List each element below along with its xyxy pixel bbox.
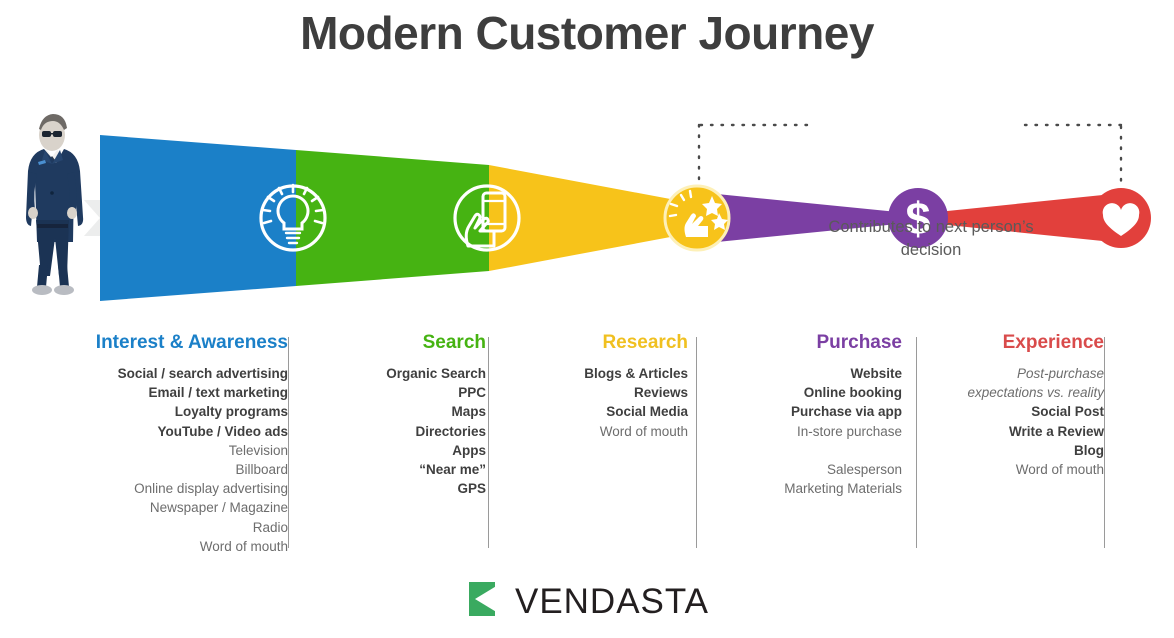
list-item: In-store purchase xyxy=(700,422,902,441)
list-item: Online booking xyxy=(700,383,902,402)
list-item: Purchase via app xyxy=(700,402,902,421)
funnel-label-awareness: Awareness xyxy=(146,307,236,328)
list-item: Directories xyxy=(300,422,486,441)
vendasta-logo: VENDASTA xyxy=(0,578,1174,622)
column-items: Organic SearchPPCMapsDirectoriesApps“Nea… xyxy=(300,364,486,498)
list-item: Television xyxy=(20,441,288,460)
list-item: Loyalty programs xyxy=(20,402,288,421)
list-item: Email / text marketing xyxy=(20,383,288,402)
column-items: Blogs & ArticlesReviewsSocial MediaWord … xyxy=(498,364,688,441)
list-item: Word of mouth xyxy=(914,460,1104,479)
column-divider xyxy=(1104,337,1105,548)
list-item: Billboard xyxy=(20,460,288,479)
list-item: Apps xyxy=(300,441,486,460)
list-item: Word of mouth xyxy=(20,537,288,556)
funnel-label-reputation: Reputation xyxy=(543,307,631,328)
heart-icon xyxy=(1091,188,1151,248)
column-items: Social / search advertisingEmail / text … xyxy=(20,364,288,556)
customer-journey-funnel: $ Awareness Findability Reputation Conve… xyxy=(0,100,1174,320)
list-item: Reviews xyxy=(498,383,688,402)
column-search: Search Organic SearchPPCMapsDirectoriesA… xyxy=(300,332,486,498)
list-item: expectations vs. reality xyxy=(914,383,1104,402)
list-item: Word of mouth xyxy=(498,422,688,441)
list-item: Radio xyxy=(20,518,288,537)
list-item: Organic Search xyxy=(300,364,486,383)
tap-stars-icon xyxy=(665,186,729,250)
list-item: GPS xyxy=(300,479,486,498)
page-title: Modern Customer Journey xyxy=(0,6,1174,60)
list-item: Newspaper / Magazine xyxy=(20,498,288,517)
list-item: Social / search advertising xyxy=(20,364,288,383)
list-item: Blog xyxy=(914,441,1104,460)
list-item: Social Media xyxy=(498,402,688,421)
list-item: Website xyxy=(700,364,902,383)
list-item: PPC xyxy=(300,383,486,402)
feedback-loop-note: Contributes to next person’s decision xyxy=(806,216,1056,262)
list-item: Marketing Materials xyxy=(700,479,902,498)
list-item: Social Post xyxy=(914,402,1104,421)
list-item: Online display advertising xyxy=(20,479,288,498)
column-items: WebsiteOnline bookingPurchase via appIn-… xyxy=(700,364,902,498)
list-item: YouTube / Video ads xyxy=(20,422,288,441)
funnel-label-advocacy: Advocacy xyxy=(1002,308,1077,328)
vendasta-mark-icon xyxy=(465,578,507,625)
list-item: Post-purchase xyxy=(914,364,1104,383)
journey-detail-columns: Interest & Awareness Social / search adv… xyxy=(0,332,1174,552)
column-divider xyxy=(488,337,489,548)
column-heading: Search xyxy=(300,332,486,354)
column-heading: Purchase xyxy=(700,332,902,354)
funnel-graphic: $ xyxy=(0,100,1174,320)
list-item: Salesperson xyxy=(700,460,902,479)
funnel-segment-awareness xyxy=(100,135,296,301)
businessman-figure xyxy=(26,114,83,295)
column-heading: Experience xyxy=(914,332,1104,354)
column-divider xyxy=(288,337,289,548)
funnel-label-findability: Findability xyxy=(342,307,424,328)
column-divider xyxy=(696,337,697,548)
column-interest-awareness: Interest & Awareness Social / search adv… xyxy=(20,332,288,556)
list-item: “Near me” xyxy=(300,460,486,479)
list-item: Blogs & Articles xyxy=(498,364,688,383)
column-items: Post-purchaseexpectations vs. realitySoc… xyxy=(914,364,1104,479)
funnel-label-conversion: Conversion xyxy=(747,308,834,328)
column-purchase: Purchase WebsiteOnline bookingPurchase v… xyxy=(700,332,902,498)
infographic-canvas: Modern Customer Journey xyxy=(0,0,1174,638)
column-experience: Experience Post-purchaseexpectations vs.… xyxy=(914,332,1104,479)
column-heading: Interest & Awareness xyxy=(20,332,288,354)
column-research: Research Blogs & ArticlesReviewsSocial M… xyxy=(498,332,688,441)
list-item xyxy=(700,441,902,460)
logo-wordmark: VENDASTA xyxy=(515,582,709,622)
column-divider xyxy=(916,337,917,548)
list-item: Maps xyxy=(300,402,486,421)
list-item: Write a Review xyxy=(914,422,1104,441)
column-heading: Research xyxy=(498,332,688,354)
